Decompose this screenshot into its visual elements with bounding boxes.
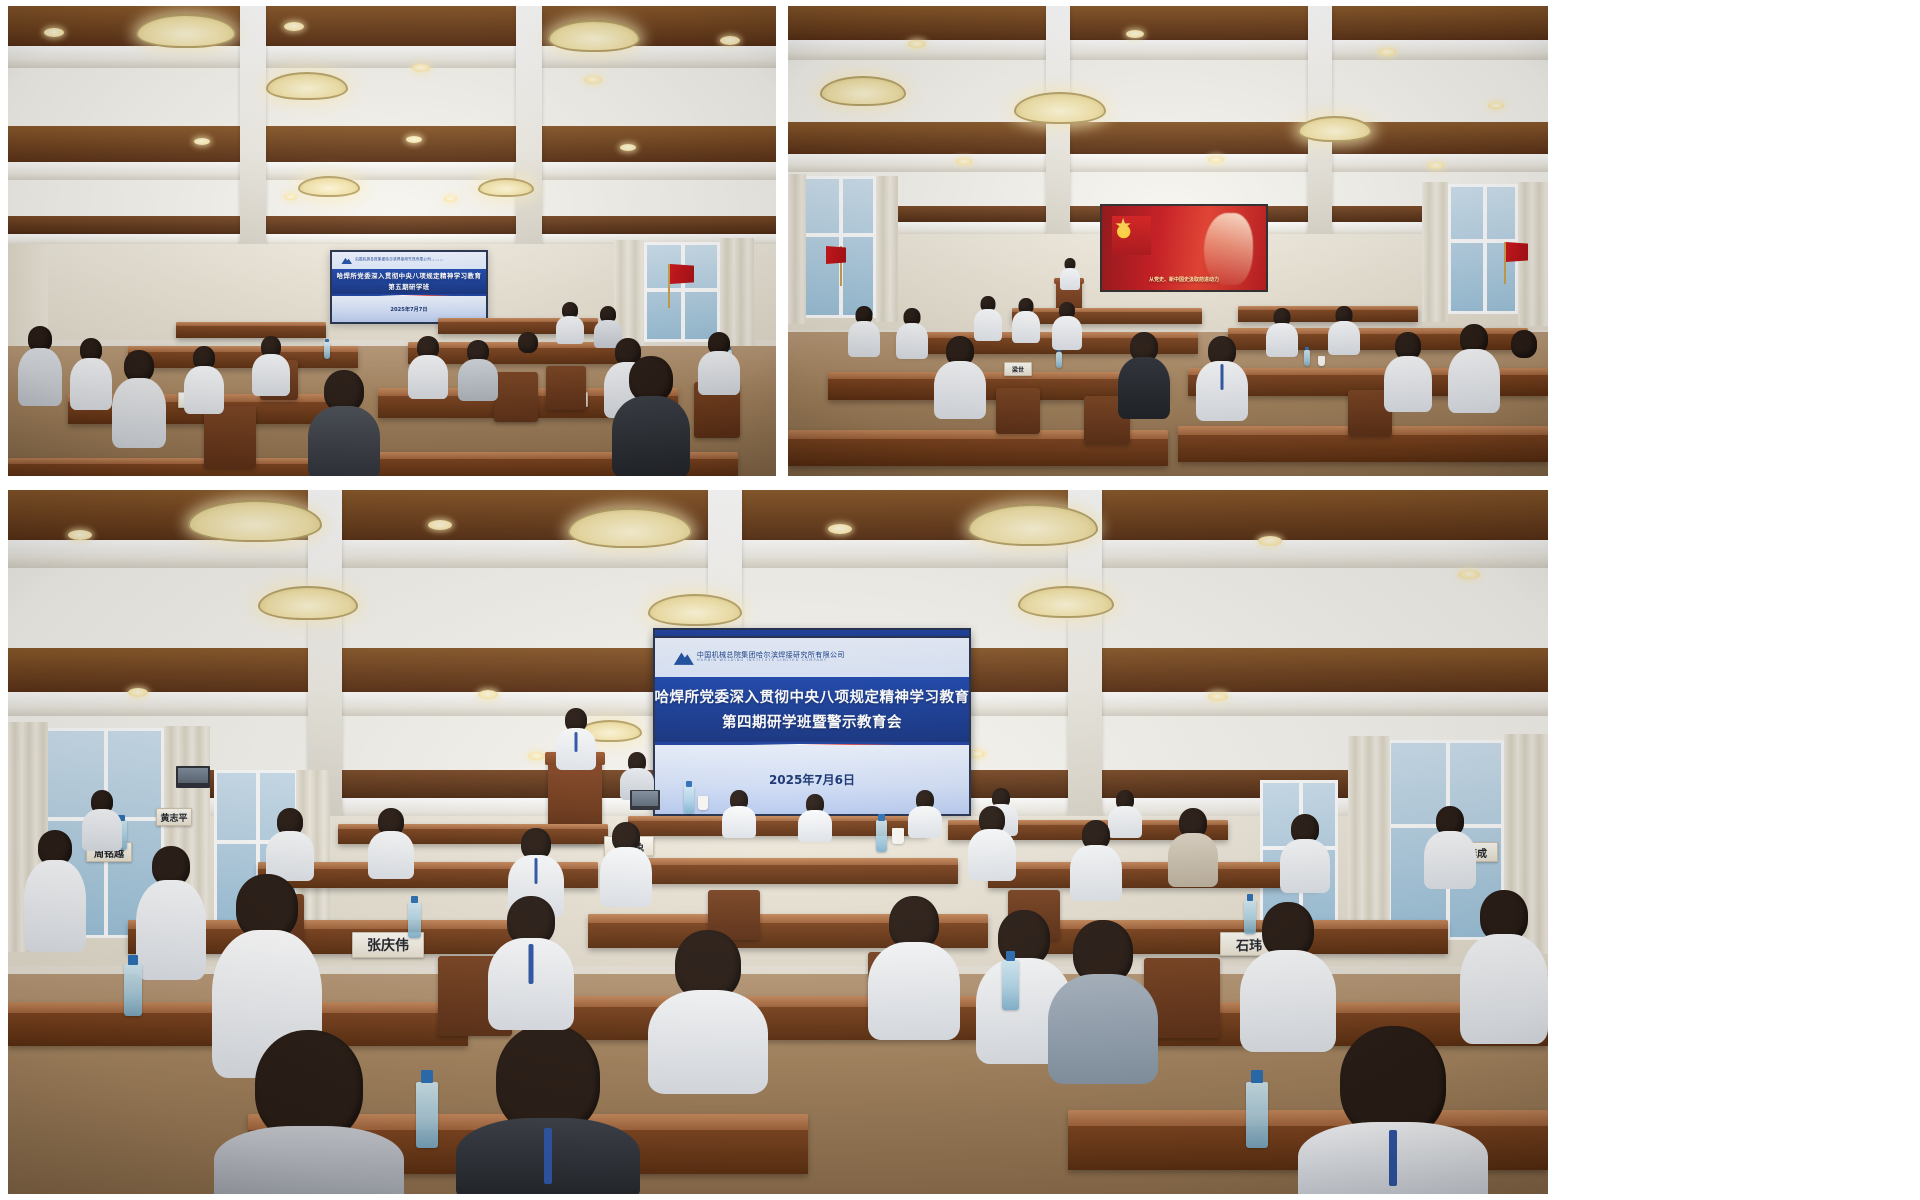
attendee <box>408 336 448 396</box>
flag-pole <box>1504 242 1506 284</box>
ceiling-beam <box>788 40 1548 60</box>
attendee <box>1118 332 1170 416</box>
attendee <box>266 808 314 878</box>
downlight <box>1208 692 1228 701</box>
lanyard <box>1221 364 1224 390</box>
downlight <box>620 144 636 151</box>
attendee <box>488 896 574 1026</box>
curtain <box>1348 736 1390 950</box>
chandelier-light <box>1018 586 1114 618</box>
attendee <box>308 370 380 476</box>
company-logo-text: 中国机械总院集团哈尔滨焊接研究所有限公司 HARBIN WELDING INST… <box>697 652 845 663</box>
curtain <box>1422 182 1448 322</box>
bottle-cap <box>1247 894 1254 901</box>
attendee <box>136 846 206 976</box>
chandelier-light <box>548 20 640 52</box>
screen-date: 2025年7月6日 <box>769 771 855 788</box>
attendee <box>456 1024 640 1194</box>
bottle-cap <box>1305 347 1308 350</box>
screen-header: 中国机械总院集团哈尔滨焊接研究所有限公司 HARBIN WELDING INST… <box>332 252 486 269</box>
downlight <box>478 690 498 699</box>
chandelier-light <box>298 176 360 197</box>
attendee-body <box>934 361 986 419</box>
downlight <box>412 64 430 72</box>
nameplate-text: 张庆伟 <box>367 935 409 955</box>
downlight <box>720 36 740 45</box>
attendee <box>612 356 690 476</box>
desk-surface <box>988 862 1318 869</box>
downlight <box>584 76 602 84</box>
led-caption: 从党史、新中国史汲取前进动力 <box>1102 276 1266 283</box>
desk-panel <box>1178 435 1548 462</box>
desk-panel <box>988 869 1318 888</box>
chinese-flag <box>670 264 694 284</box>
projection-screen-bottom: CAM 中国机械总院集团哈尔滨焊接研究所有限公司 HARBIN WELDING … <box>653 636 971 816</box>
mountain-logo-icon <box>674 650 694 665</box>
conference-room-scene-right: 从党史、新中国史汲取前进动力 <box>788 6 1548 476</box>
downlight <box>1258 536 1282 546</box>
attendee <box>1168 808 1218 884</box>
mountain-logo-icon <box>341 256 352 264</box>
downlight <box>68 530 92 540</box>
bottle-cap <box>878 814 884 820</box>
desk-panel <box>176 326 326 338</box>
attendee-body <box>600 847 652 907</box>
attendee <box>18 326 62 406</box>
attendee-body <box>698 351 740 395</box>
attendee-body <box>968 829 1016 881</box>
flag-pole <box>668 264 670 308</box>
nameplate-text: 梁世 <box>1012 365 1024 374</box>
attendee <box>1070 820 1122 898</box>
chandelier-light <box>188 500 322 542</box>
attendee-body <box>612 396 690 476</box>
conference-room-scene-bottom: CAM 中国机械总院集团哈尔滨焊接研究所有限公司 HARBIN WELDING … <box>8 490 1548 1194</box>
attendee-body <box>908 806 942 838</box>
conference-room-scene-left: CAM 中国机械总院集团哈尔滨焊接研究所有限公司 HARBIN WELDING … <box>8 6 776 476</box>
bottle-cap <box>1006 951 1016 961</box>
attendee-body <box>252 354 290 396</box>
attendee-body <box>1048 974 1158 1084</box>
downlight <box>284 194 297 200</box>
attendee <box>648 930 768 1090</box>
attendee <box>974 296 1002 340</box>
downlight <box>1488 102 1504 109</box>
ceiling-wood-coffer <box>8 126 776 162</box>
desk-row <box>8 458 328 476</box>
paper-cup <box>892 828 904 844</box>
attendee-body <box>458 359 498 401</box>
attendee-body <box>112 378 166 448</box>
attendee <box>1266 308 1298 356</box>
attendee <box>1052 302 1082 348</box>
attendee <box>458 340 498 398</box>
downlight <box>828 524 852 534</box>
chandelier-light <box>258 586 358 620</box>
attendee-body <box>18 348 62 406</box>
attendee <box>896 308 928 358</box>
chandelier-light <box>820 76 906 106</box>
laptop <box>630 790 660 810</box>
company-name-en: HARBIN WELDING INSTITUTE LIMITED COMPANY <box>355 261 444 263</box>
photo-collage: CAM 中国机械总院集团哈尔滨焊接研究所有限公司 HARBIN WELDING … <box>0 0 1920 1200</box>
laptop-screen <box>632 791 658 805</box>
attendee-body <box>848 321 880 357</box>
desk-surface <box>628 858 958 865</box>
attendee <box>1384 332 1432 410</box>
ceiling-beam-vertical <box>240 6 266 246</box>
attendee <box>24 830 86 950</box>
lanyard <box>575 732 578 752</box>
screen-title-line1: 哈焊所党委深入贯彻中央八项规定精神学习教育 <box>337 271 482 280</box>
ceiling-wood-coffer <box>788 122 1548 154</box>
water-bottle <box>324 342 330 359</box>
screen-date: 2025年7月7日 <box>390 306 427 313</box>
figure-graphic <box>1204 213 1253 285</box>
attendee-body <box>722 806 756 838</box>
attendee <box>1328 306 1360 354</box>
ceiling-beam-vertical <box>516 6 542 246</box>
desk-row <box>176 322 326 338</box>
attendee <box>798 794 832 840</box>
attendee <box>556 302 584 342</box>
chandelier-light <box>568 508 692 548</box>
attendee-body <box>1424 831 1476 889</box>
ceiling-panel <box>8 180 776 216</box>
downlight <box>428 520 452 530</box>
attendee <box>112 350 166 446</box>
attendee <box>1424 806 1476 886</box>
projection-screen-left: CAM 中国机械总院集团哈尔滨焊接研究所有限公司 HARBIN WELDING … <box>330 250 488 324</box>
paper-cup <box>1318 356 1325 366</box>
attendee-body <box>510 349 546 387</box>
attendee-body <box>1384 356 1432 412</box>
nameplate: 黄志平 <box>156 808 192 826</box>
downlight <box>1428 162 1444 169</box>
attendee-body <box>136 880 206 980</box>
company-logo: 中国机械总院集团哈尔滨焊接研究所有限公司 HARBIN WELDING INST… <box>674 650 845 665</box>
chandelier-light <box>136 14 236 48</box>
water-bottle <box>1056 352 1062 368</box>
screen-title-band: 哈焊所党委深入贯彻中央八项规定精神学习教育 第四期研学班暨警示教育会 <box>655 677 969 742</box>
downlight <box>194 138 210 145</box>
curtain <box>788 174 806 324</box>
photo-top-left: CAM 中国机械总院集团哈尔滨焊接研究所有限公司 HARBIN WELDING … <box>8 6 776 476</box>
attendee-body <box>1500 354 1548 414</box>
speaker-at-podium <box>1060 258 1080 288</box>
attendee <box>868 896 960 1036</box>
downlight <box>908 40 926 48</box>
attendee <box>722 790 756 836</box>
ceiling-beam <box>8 46 776 68</box>
ceiling-wood-coffer <box>788 6 1548 40</box>
nameplate: 梁世 <box>1004 362 1032 376</box>
attendee-body <box>1012 311 1040 343</box>
desk-row <box>628 858 958 884</box>
bottle-cap <box>686 781 692 787</box>
lanyard <box>544 1128 552 1184</box>
lanyard <box>535 858 538 884</box>
attendee-body <box>1168 833 1218 887</box>
water-bottle <box>416 1082 438 1148</box>
water-bottle <box>124 964 142 1016</box>
desk-panel <box>8 464 328 476</box>
desk-panel <box>628 865 958 884</box>
attendee <box>908 790 942 836</box>
attendee <box>1012 298 1040 342</box>
attendee-body <box>896 323 928 359</box>
company-name-en: HARBIN WELDING INSTITUTE LIMITED COMPANY <box>697 659 845 663</box>
attendee-body <box>24 860 86 952</box>
bottle-cap <box>325 339 328 342</box>
desk-row <box>988 862 1318 888</box>
chandelier-light <box>478 178 534 197</box>
downlight <box>1458 570 1480 579</box>
chandelier-light <box>1298 116 1372 142</box>
attendee <box>600 822 652 904</box>
ceiling-beam <box>8 162 776 180</box>
attendee-body <box>1052 316 1082 350</box>
attendee <box>1298 1026 1488 1194</box>
attendee <box>968 806 1016 878</box>
attendee-body <box>214 1126 404 1194</box>
bottle-cap <box>128 955 138 965</box>
ceiling-panel <box>8 68 776 126</box>
downlight <box>1126 30 1144 38</box>
attendee <box>1500 330 1548 412</box>
downlight <box>956 158 972 165</box>
curtain <box>876 176 898 322</box>
water-bottle <box>876 820 887 852</box>
bottle-cap <box>421 1070 433 1083</box>
desk-panel <box>1012 312 1202 324</box>
company-logo-text: 中国机械总院集团哈尔滨焊接研究所有限公司 HARBIN WELDING INST… <box>355 258 444 263</box>
attendee-body <box>184 366 224 414</box>
attendee-body <box>1118 357 1170 419</box>
water-bottle <box>684 786 694 814</box>
laptop <box>176 766 210 788</box>
attendee <box>1448 324 1500 410</box>
paper-cup <box>698 796 708 810</box>
laptop-screen <box>178 768 207 784</box>
screen-title-line2: 第四期研学班暨警示教育会 <box>722 711 902 732</box>
attendee <box>368 808 414 876</box>
attendee-body <box>70 358 112 410</box>
chandelier-light <box>266 72 348 100</box>
downlight <box>128 688 148 697</box>
screen-title-band: 哈焊所党委深入贯彻中央八项规定精神学习教育 第五期研学班 <box>332 269 486 294</box>
attendee-body <box>1266 323 1298 357</box>
nameplate-text: 黄志平 <box>160 811 187 824</box>
chandelier-light <box>1014 92 1106 124</box>
attendee-body <box>1460 934 1548 1044</box>
ceiling-beam <box>8 540 1548 568</box>
chinese-flag <box>826 246 846 264</box>
attendee-body <box>798 810 832 842</box>
window <box>644 242 720 342</box>
attendee <box>184 346 224 412</box>
chinese-flag <box>1506 242 1528 262</box>
downlight <box>1208 156 1224 163</box>
desk-row <box>1012 308 1202 324</box>
water-bottle <box>408 902 421 938</box>
bottle-cap <box>411 896 418 903</box>
ceiling-wood-coffer <box>8 6 776 46</box>
downlight <box>406 136 422 143</box>
downlight <box>284 22 304 31</box>
attendee <box>698 332 740 392</box>
downlight <box>44 28 64 37</box>
bottle-cap <box>1251 1070 1263 1083</box>
photo-top-right: 从党史、新中国史汲取前进动力 <box>788 6 1548 476</box>
window-mullion <box>1483 187 1487 311</box>
attendee-body <box>308 406 380 476</box>
attendee <box>510 332 546 384</box>
attendee <box>214 1030 404 1194</box>
attendee <box>1196 336 1248 418</box>
attendee-body <box>1280 839 1330 893</box>
attendee <box>82 790 122 848</box>
downlight <box>528 752 545 760</box>
downlight <box>444 196 457 202</box>
window-mullion <box>681 245 685 339</box>
photo-bottom-panorama: CAM 中国机械总院集团哈尔滨焊接研究所有限公司 HARBIN WELDING … <box>8 490 1548 1194</box>
screen-title-line2: 第五期研学班 <box>388 282 429 291</box>
lanyard <box>1389 1130 1397 1186</box>
led-video-wall: 从党史、新中国史汲取前进动力 <box>1100 204 1268 292</box>
attendee <box>70 338 112 410</box>
water-bottle <box>1246 1082 1268 1148</box>
attendee-body <box>368 831 414 879</box>
attendee-body <box>1448 349 1500 413</box>
attendee <box>252 336 290 394</box>
screen-header: 中国机械总院集团哈尔滨焊接研究所有限公司 HARBIN WELDING INST… <box>655 638 969 677</box>
attendee-body <box>556 316 584 344</box>
chandelier-light <box>648 594 742 626</box>
attendee <box>1280 814 1330 890</box>
chair <box>204 406 256 468</box>
water-bottle <box>1002 960 1019 1010</box>
attendee <box>934 336 986 416</box>
attendee-body <box>868 942 960 1040</box>
attendee-body <box>648 990 768 1094</box>
attendee <box>1048 920 1158 1080</box>
screen-title-line1: 哈焊所党委深入贯彻中央八项规定精神学习教育 <box>655 686 970 707</box>
chair <box>546 366 586 410</box>
speaker-at-podium <box>556 708 596 766</box>
speaker-body <box>1060 268 1080 290</box>
chandelier-light <box>968 504 1098 546</box>
attendee-body <box>1070 845 1122 901</box>
lanyard <box>529 944 534 984</box>
attendee <box>848 306 880 356</box>
company-logo: 中国机械总院集团哈尔滨焊接研究所有限公司 HARBIN WELDING INST… <box>341 256 444 264</box>
desk-surface <box>828 372 1168 379</box>
downlight <box>1378 48 1396 56</box>
attendee <box>1460 890 1548 1040</box>
water-bottle <box>1304 350 1310 366</box>
party-flag-graphic <box>1112 216 1151 255</box>
attendee-body <box>408 355 448 399</box>
ceiling-wood-coffer <box>8 216 776 234</box>
chair <box>996 388 1040 434</box>
attendee-body <box>82 809 122 851</box>
attendee-body <box>1328 321 1360 355</box>
